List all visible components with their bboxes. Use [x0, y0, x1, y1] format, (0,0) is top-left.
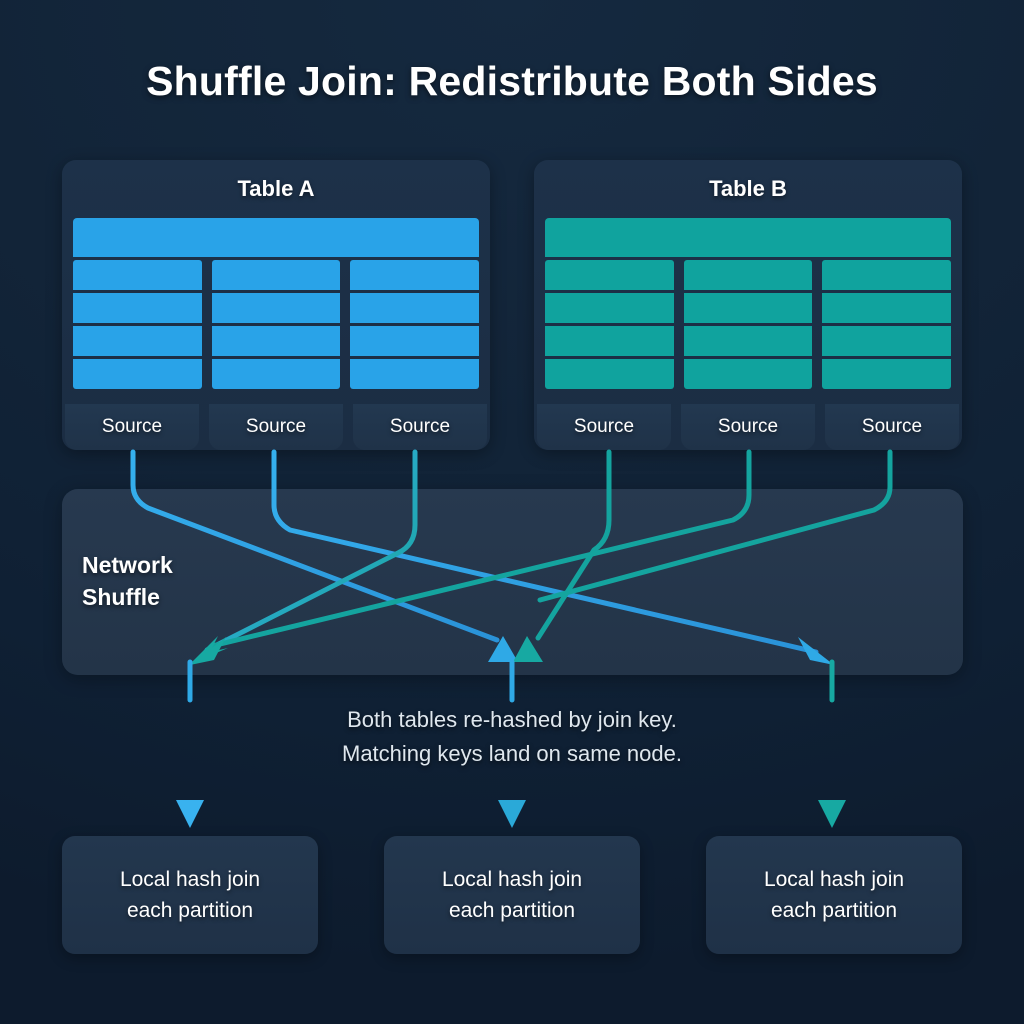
diagram-canvas: Shuffle Join: Redistribute Both Sides Ta… — [0, 0, 1024, 1024]
caption-line-1: Both tables re-hashed by join key. — [0, 703, 1024, 737]
table-cell — [545, 326, 674, 356]
table-cell — [350, 326, 479, 356]
table-b-grid — [545, 218, 951, 389]
table-cell — [73, 326, 202, 356]
table-cell — [822, 260, 951, 290]
table-b-column — [684, 260, 813, 389]
table-cell — [545, 359, 674, 389]
network-shuffle-label-line1: Network — [82, 549, 282, 581]
table-cell — [822, 293, 951, 323]
table-cell — [545, 293, 674, 323]
output-box-1[interactable]: Local hash join each partition — [62, 836, 318, 954]
network-shuffle-label-line2: Shuffle — [82, 581, 282, 613]
output-box-2-line2: each partition — [442, 895, 582, 926]
network-shuffle-label: Network Shuffle — [82, 549, 282, 613]
table-cell — [73, 260, 202, 290]
table-cell — [212, 260, 341, 290]
output-box-3-line2: each partition — [764, 895, 904, 926]
output-box-1-line1: Local hash join — [120, 864, 260, 895]
table-cell — [212, 359, 341, 389]
table-cell — [684, 359, 813, 389]
table-cell — [212, 326, 341, 356]
table-a-column — [350, 260, 479, 389]
table-cell — [73, 293, 202, 323]
table-cell — [73, 359, 202, 389]
arrowhead-output-3 — [818, 800, 846, 828]
caption: Both tables re-hashed by join key. Match… — [0, 703, 1024, 771]
output-box-2[interactable]: Local hash join each partition — [384, 836, 640, 954]
arrowhead-output-2 — [498, 800, 526, 828]
output-box-3-line1: Local hash join — [764, 864, 904, 895]
table-a-grid — [73, 218, 479, 389]
table-cell — [350, 293, 479, 323]
output-box-3[interactable]: Local hash join each partition — [706, 836, 962, 954]
output-box-2-line1: Local hash join — [442, 864, 582, 895]
table-panel-a: Table A — [62, 160, 490, 450]
output-box-3-text: Local hash join each partition — [764, 864, 904, 926]
table-b-header-bar — [545, 218, 951, 257]
table-b-title: Table B — [534, 176, 962, 202]
source-box-a2[interactable]: Source — [209, 404, 343, 450]
table-a-source-row: Source Source Source — [62, 404, 490, 450]
table-b-source-row: Source Source Source — [534, 404, 962, 450]
arrowhead-output-1 — [176, 800, 204, 828]
table-cell — [684, 326, 813, 356]
table-b-columns — [545, 260, 951, 389]
table-cell — [212, 293, 341, 323]
table-cell — [545, 260, 674, 290]
source-box-a1[interactable]: Source — [65, 404, 199, 450]
output-box-2-text: Local hash join each partition — [442, 864, 582, 926]
table-cell — [350, 359, 479, 389]
table-cell — [350, 260, 479, 290]
source-box-b2[interactable]: Source — [681, 404, 815, 450]
source-box-b1[interactable]: Source — [537, 404, 671, 450]
table-a-columns — [73, 260, 479, 389]
caption-line-2: Matching keys land on same node. — [0, 737, 1024, 771]
table-cell — [822, 359, 951, 389]
table-b-column — [822, 260, 951, 389]
table-cell — [684, 293, 813, 323]
output-box-1-line2: each partition — [120, 895, 260, 926]
table-a-title: Table A — [62, 176, 490, 202]
table-a-column — [212, 260, 341, 389]
table-panel-b: Table B — [534, 160, 962, 450]
source-box-a3[interactable]: Source — [353, 404, 487, 450]
source-box-b3[interactable]: Source — [825, 404, 959, 450]
table-cell — [684, 260, 813, 290]
table-a-header-bar — [73, 218, 479, 257]
network-shuffle-panel: Network Shuffle — [62, 489, 963, 675]
table-cell — [822, 326, 951, 356]
page-title: Shuffle Join: Redistribute Both Sides — [0, 58, 1024, 105]
output-arrowheads — [176, 800, 846, 828]
output-box-1-text: Local hash join each partition — [120, 864, 260, 926]
table-b-column — [545, 260, 674, 389]
table-a-column — [73, 260, 202, 389]
